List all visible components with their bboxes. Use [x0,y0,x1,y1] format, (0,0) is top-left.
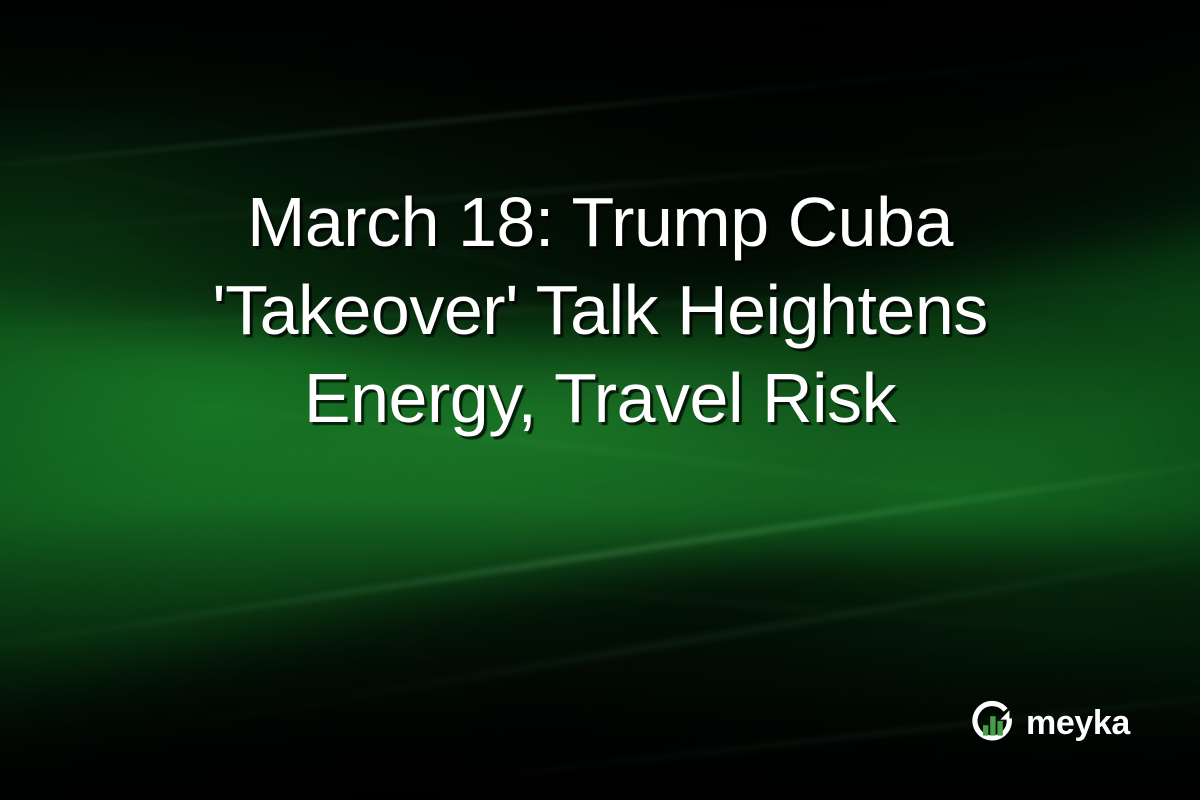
headline-line-2: 'Takeover' Talk Heightens [60,266,1140,354]
wave-shadow-band-lower [0,455,1200,800]
headline-line-3: Energy, Travel Risk [60,354,1140,442]
ring-bar-chart-icon [968,698,1018,748]
brand-name: meyka [1026,706,1130,740]
light-streak [242,563,1200,660]
headline-line-1: March 18: Trump Cuba [60,178,1140,266]
headline: March 18: Trump Cuba 'Takeover' Talk Hei… [60,178,1140,442]
light-streak [0,419,1200,681]
light-streak [0,28,1200,184]
brand-logo: meyka [968,698,1130,748]
news-card: March 18: Trump Cuba 'Takeover' Talk Hei… [0,0,1200,800]
light-streak [46,0,1200,127]
